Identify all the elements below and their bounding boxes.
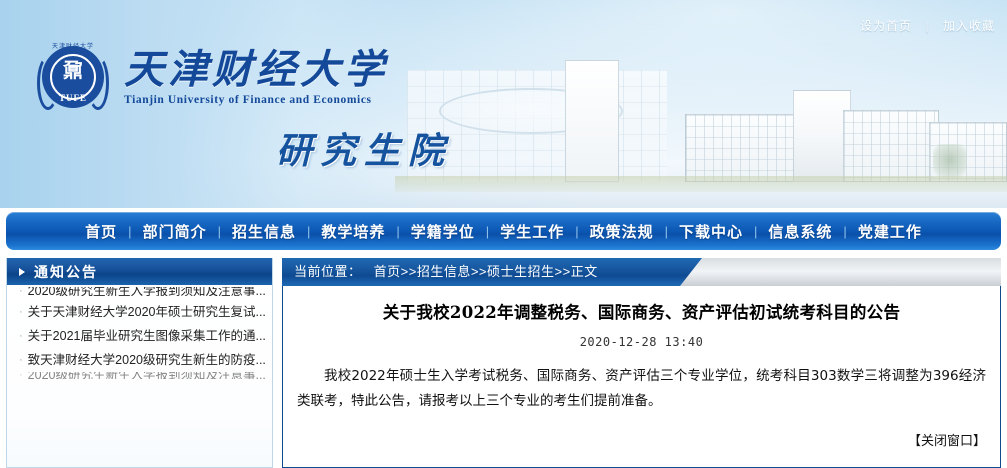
nav-item-department-intro[interactable]: 部门简介 <box>133 221 217 242</box>
list-item[interactable]: · 致天津财经大学2020级研究生新生的防疫... <box>7 348 272 372</box>
list-bullet-icon: · <box>19 300 23 324</box>
breadcrumb-trail[interactable]: 首页>>招生信息>>硕士生招生>>正文 <box>374 264 598 279</box>
set-homepage-link[interactable]: 设为首页 <box>860 19 912 33</box>
breadcrumb-lead: 当前位置： <box>294 264 362 279</box>
campus-tower <box>565 60 619 182</box>
crest-abbr: TUFE <box>36 93 110 103</box>
university-name-cn: 天津财经大学 <box>124 49 388 91</box>
list-item-label: 致天津财经大学2020级研究生新生的防疫... <box>28 348 266 372</box>
university-name-en: Tianjin University of Finance and Econom… <box>124 94 388 106</box>
list-item[interactable]: · 关于2021届毕业研究生图像采集工作的通... <box>7 324 272 348</box>
nav-item-download-center[interactable]: 下载中心 <box>669 221 753 242</box>
list-bullet-icon: · <box>19 348 23 372</box>
list-item[interactable]: · 关于天津财经大学2020年硕士研究生复试... <box>7 300 272 324</box>
article-panel: 关于我校2022年调整税务、国际商务、资产评估初试统考科目的公告 2020-12… <box>282 286 1001 468</box>
article-body: 我校2022年硕士生入学考试税务、国际商务、资产评估三个专业学位，统考科目303… <box>297 364 986 414</box>
site-logo[interactable]: 天津财经大学 鼐 TUFE 天津财经大学 Tianjin University … <box>36 40 388 114</box>
list-bullet-icon: · <box>19 287 23 296</box>
list-bullet-icon: · <box>19 324 23 348</box>
close-window-link[interactable]: 【关闭窗口】 <box>297 430 986 449</box>
breadcrumb: 当前位置： 首页>>招生信息>>硕士生招生>>正文 <box>294 258 598 286</box>
logo-text-block: 天津财经大学 Tianjin University of Finance and… <box>124 49 388 106</box>
page-title: 关于我校2022年调整税务、国际商务、资产评估初试统考科目的公告 <box>297 302 986 323</box>
site-subtitle: 研究生院 <box>276 122 452 174</box>
list-item-label: 2020级研究生新生入学报到须知及注意事... <box>28 287 266 296</box>
crest-arc-text: 天津财经大学 <box>36 41 110 50</box>
nav-item-admissions[interactable]: 招生信息 <box>222 221 306 242</box>
campus-lawn <box>395 176 1007 192</box>
list-bullet-icon: · <box>19 372 23 379</box>
nav-item-home[interactable]: 首页 <box>75 221 127 242</box>
top-utility-links: 设为首页 | 加入收藏 <box>860 17 995 34</box>
list-item-label: 关于2021届毕业研究生图像采集工作的通... <box>28 324 266 348</box>
navigation-zone: 首页 | 部门简介 | 招生信息 | 教学培养 | 学籍学位 | 学生工作 | … <box>0 208 1007 254</box>
triangle-right-icon <box>19 268 25 276</box>
list-item[interactable]: · 2020级研究生新生入学报到须知及注意事... <box>7 287 272 300</box>
content-column: 当前位置： 首页>>招生信息>>硕士生招生>>正文 关于我校2022年调整税务、… <box>282 258 1001 468</box>
page-body: 通知公告 · 2020级研究生新生入学报到须知及注意事... · 关于天津财经大… <box>0 254 1007 468</box>
list-item-label: 关于天津财经大学2020年硕士研究生复试... <box>28 300 266 324</box>
nav-item-party-building[interactable]: 党建工作 <box>848 221 932 242</box>
list-item-label: 2020级研究生新生入学报到须知及注意事... <box>28 372 266 379</box>
campus-building-3 <box>843 110 939 182</box>
sidebar-title: 通知公告 <box>34 262 98 282</box>
crest-glyph: 鼐 <box>36 60 110 80</box>
nav-item-information-system[interactable]: 信息系统 <box>758 221 842 242</box>
site-banner: 设为首页 | 加入收藏 天津财经大学 鼐 TUFE 天津财经大学 Tianjin… <box>0 0 1007 208</box>
notice-sidebar: 通知公告 · 2020级研究生新生入学报到须知及注意事... · 关于天津财经大… <box>6 258 273 468</box>
notice-list: · 2020级研究生新生入学报到须知及注意事... · 关于天津财经大学2020… <box>7 285 272 468</box>
add-favorite-link[interactable]: 加入收藏 <box>943 19 995 33</box>
close-window-label[interactable]: 【关闭窗口】 <box>908 433 986 448</box>
university-crest-icon: 天津财经大学 鼐 TUFE <box>36 40 110 114</box>
campus-photo <box>395 60 1007 192</box>
campus-building-1 <box>685 114 805 182</box>
sidebar-header: 通知公告 <box>7 258 272 285</box>
nav-item-student-affairs[interactable]: 学生工作 <box>490 221 574 242</box>
list-item[interactable]: · 2020级研究生新生入学报到须知及注意事... <box>7 372 272 383</box>
breadcrumb-bar: 当前位置： 首页>>招生信息>>硕士生招生>>正文 <box>282 258 1001 286</box>
nav-item-student-status-degree[interactable]: 学籍学位 <box>401 221 485 242</box>
top-links-separator: | <box>926 19 930 33</box>
main-navigation: 首页 | 部门简介 | 招生信息 | 教学培养 | 学籍学位 | 学生工作 | … <box>6 212 1001 250</box>
nav-item-teaching-training[interactable]: 教学培养 <box>311 221 395 242</box>
article-timestamp: 2020-12-28 13:40 <box>297 335 986 349</box>
nav-item-policies-regulations[interactable]: 政策法规 <box>580 221 664 242</box>
